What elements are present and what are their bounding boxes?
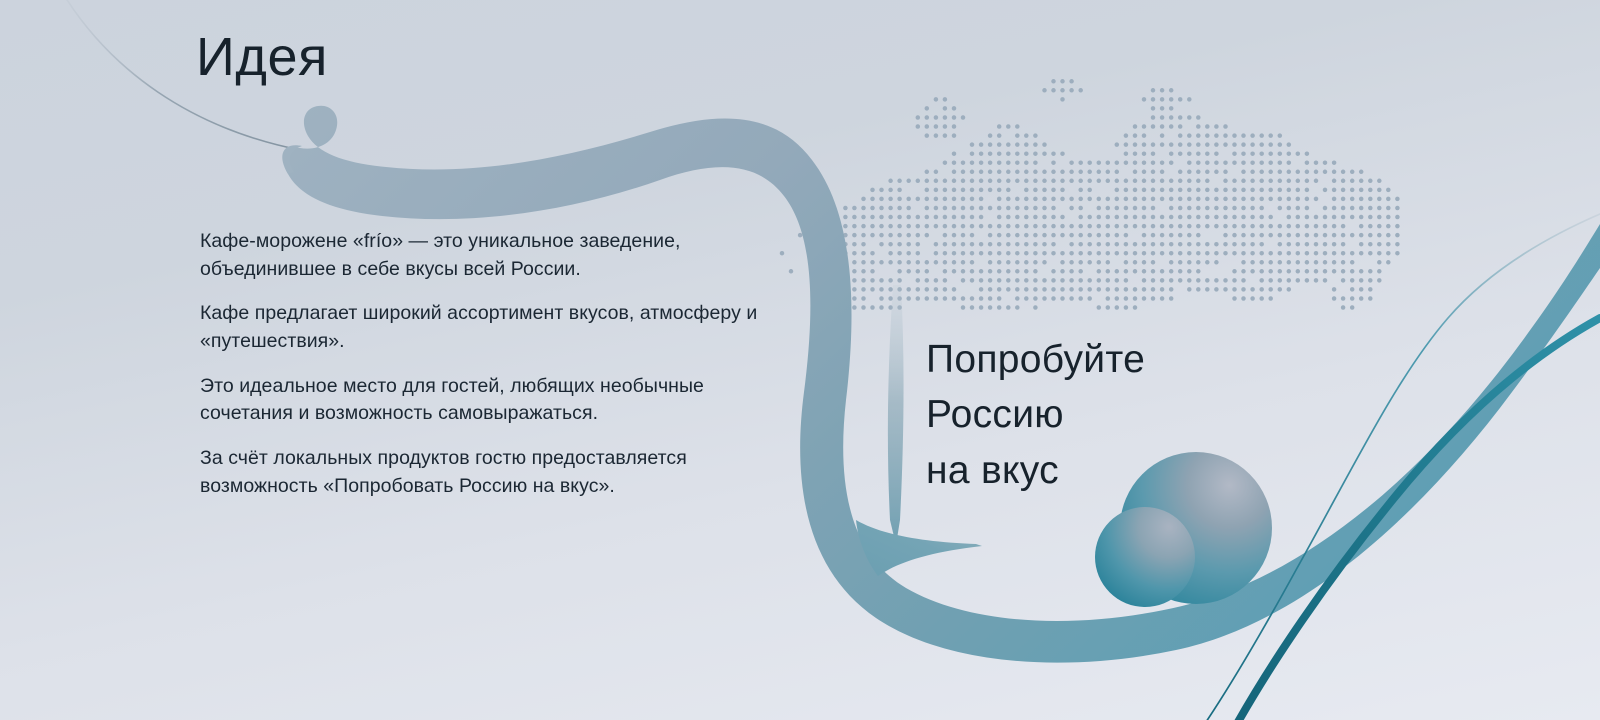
paragraph-3: Это идеальное место для гостей, любящих … <box>200 373 760 428</box>
tagline: Попробуйте Россию на вкус <box>926 332 1145 498</box>
teal-accent-line <box>1238 318 1600 720</box>
teal-hairline <box>1206 214 1600 720</box>
scoop-small <box>1095 507 1195 607</box>
dotted-russia-map <box>780 79 1400 310</box>
ribbon-drip-spike <box>888 285 904 545</box>
paragraph-2: Кафе предлагает широкий ассортимент вкус… <box>200 300 760 355</box>
paragraph-1: Кафе-морожене «frío» — это уникальное за… <box>200 228 760 283</box>
ribbon-arrow-flick <box>856 520 982 576</box>
tagline-line-1: Попробуйте <box>926 332 1145 387</box>
page-title: Идея <box>196 28 328 87</box>
body-copy: Кафе-морожене «frío» — это уникальное за… <box>200 228 760 501</box>
paragraph-4: За счёт локальных продуктов гостю предос… <box>200 445 760 500</box>
slide-canvas: Идея Кафе-морожене «frío» — это уникальн… <box>0 0 1600 720</box>
tagline-line-2: Россию <box>926 387 1145 442</box>
tagline-line-3: на вкус <box>926 443 1145 498</box>
